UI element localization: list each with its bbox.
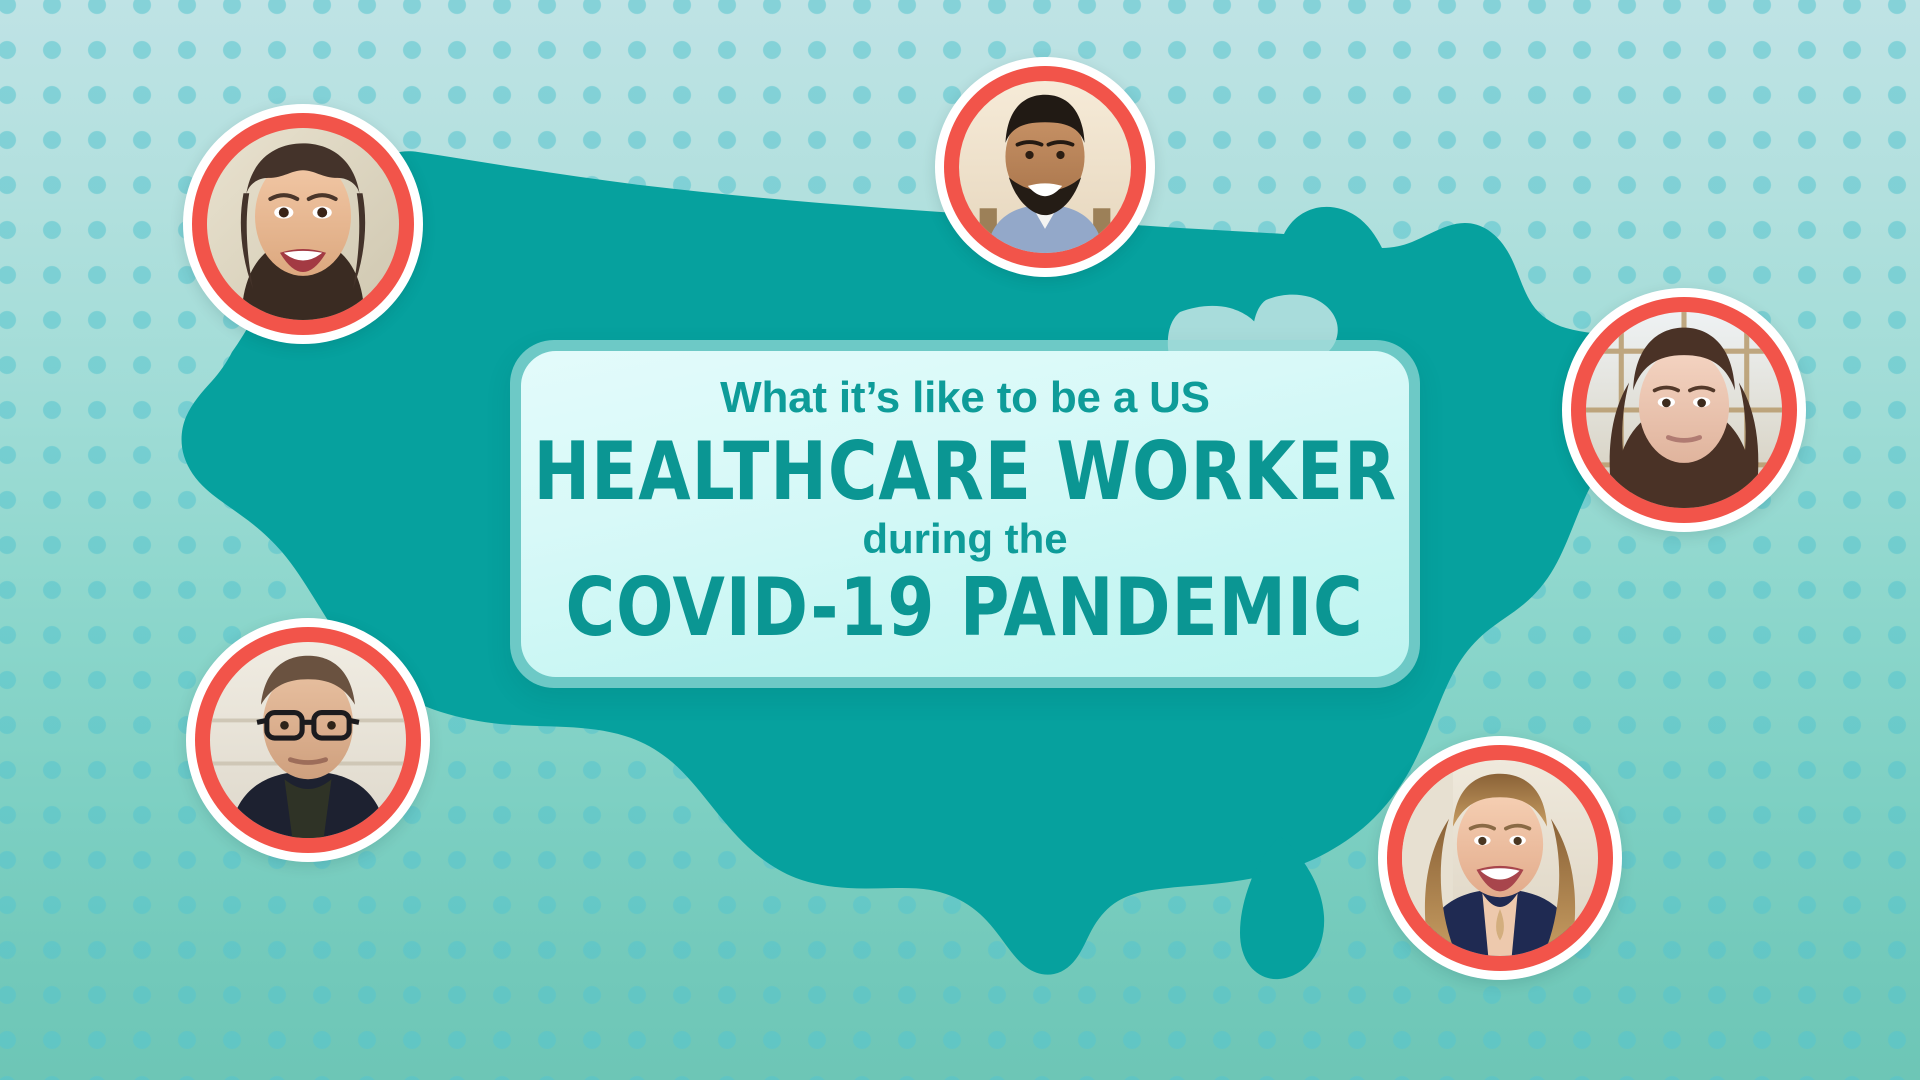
- avatar-photo-southeast: [1402, 760, 1598, 956]
- title-graphic: What it’s like to be a US HEALTHCARE WOR…: [0, 0, 1920, 1080]
- avatar-photo-southwest: [210, 642, 406, 838]
- avatar-southeast: [1378, 736, 1622, 980]
- avatar-northeast: [1562, 288, 1806, 532]
- avatar-ring: [944, 66, 1146, 268]
- avatar-ring: [192, 113, 414, 335]
- avatar-west-coast: [183, 104, 423, 344]
- title-line-2: HEALTHCARE WORKER: [533, 434, 1397, 510]
- avatar-ring: [1387, 745, 1613, 971]
- avatar-photo-upper-midwest: [959, 81, 1131, 253]
- avatar-ring: [195, 627, 421, 853]
- avatar-photo-west-coast: [207, 128, 399, 320]
- avatar-upper-midwest: [935, 57, 1155, 277]
- title-line-4: COVID-19 PANDEMIC: [566, 570, 1364, 646]
- title-card: What it’s like to be a US HEALTHCARE WOR…: [510, 340, 1420, 688]
- title-line-1: What it’s like to be a US: [720, 376, 1210, 420]
- avatar-southwest: [186, 618, 430, 862]
- title-card-inner: What it’s like to be a US HEALTHCARE WOR…: [521, 351, 1409, 677]
- avatar-ring: [1571, 297, 1797, 523]
- title-line-3: during the: [862, 518, 1067, 560]
- avatar-photo-northeast: [1586, 312, 1782, 508]
